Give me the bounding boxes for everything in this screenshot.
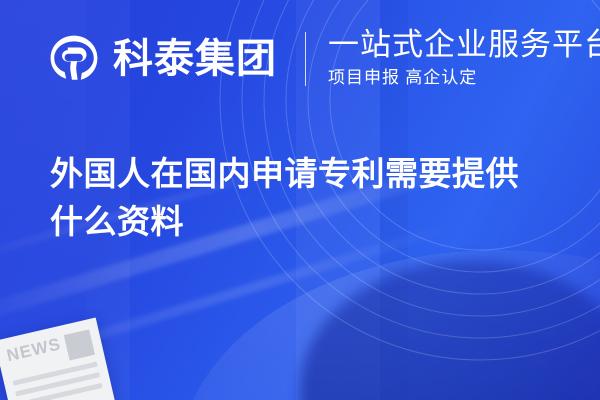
tagline-group: 一站式企业服务平台 项目申报 高企认定	[328, 28, 600, 91]
brand-name: 科泰集团	[113, 39, 277, 79]
brand-divider	[305, 32, 306, 86]
tagline-sub: 项目申报 高企认定	[328, 65, 600, 91]
page-title: 外国人在国内申请专利需要提供什么资料	[50, 150, 550, 246]
banner-image: 科泰集团 一站式企业服务平台 项目申报 高企认定 外国人在国内申请专利需要提供什…	[0, 0, 600, 400]
news-card-title: NEWS	[5, 335, 62, 364]
tagline-main: 一站式企业服务平台	[328, 28, 600, 62]
brand-lockup: 科泰集团 一站式企业服务平台 项目申报 高企认定	[48, 28, 600, 91]
banner-header: 科泰集团 一站式企业服务平台 项目申报 高企认定	[0, 0, 600, 118]
circle-r-logo-icon	[48, 33, 100, 85]
image-placeholder-block	[64, 329, 95, 360]
